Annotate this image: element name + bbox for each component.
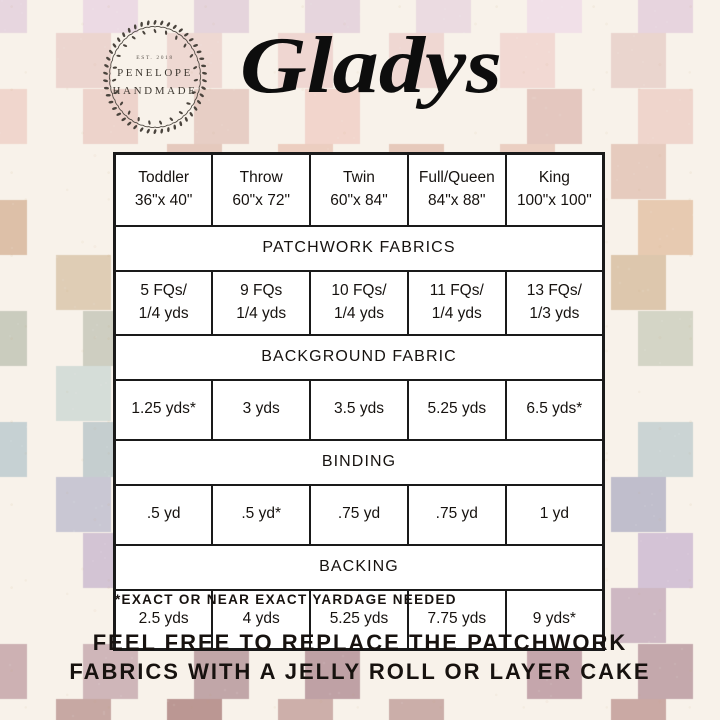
size-name: Twin	[313, 167, 405, 189]
size-dimensions: 36"x 40"	[118, 190, 209, 212]
size-header-cell: Full/Queen84"x 88"	[408, 154, 506, 226]
table-section-heading-row: PATCHWORK FABRICS	[115, 226, 604, 271]
yardage-cell: 13 FQs/1/3 yds	[506, 271, 604, 335]
yardage-value: .5 yd*	[215, 503, 307, 525]
yardage-cell: 5 FQs/1/4 yds	[115, 271, 213, 335]
substitution-note-line-1: FEEL FREE TO REPLACE THE PATCHWORK	[0, 628, 720, 657]
yardage-value: 1 yd	[509, 503, 600, 525]
size-name: Throw	[215, 167, 307, 189]
yardage-cell: 11 FQs/1/4 yds	[408, 271, 506, 335]
pattern-name-text: Gladys	[240, 22, 502, 110]
table-section-heading-row: BACKGROUND FABRIC	[115, 335, 604, 380]
yardage-value: 9 FQs	[215, 280, 307, 302]
size-header-cell: Twin60"x 84"	[310, 154, 408, 226]
brand-logo: EST. 2018 PENELOPE HANDMADE	[96, 18, 214, 136]
yardage-value: 13 FQs/	[509, 280, 600, 302]
size-dimensions: 60"x 84"	[313, 190, 405, 212]
section-heading: BACKING	[115, 545, 604, 590]
yardage-value: 3.5 yds	[313, 398, 405, 420]
yardage-footnote: *EXACT OR NEAR EXACT YARDAGE NEEDED	[115, 592, 457, 607]
yardage-cell: 9 FQs1/4 yds	[212, 271, 310, 335]
yardage-value-secondary: 1/3 yds	[509, 303, 600, 325]
yardage-cell: .75 yd	[310, 485, 408, 545]
yardage-value: 6.5 yds*	[509, 398, 600, 420]
table-value-row: 1.25 yds*3 yds3.5 yds5.25 yds6.5 yds*	[115, 380, 604, 440]
size-dimensions: 84"x 88"	[411, 190, 503, 212]
yardage-cell: 1.25 yds*	[115, 380, 213, 440]
yardage-value: 1.25 yds*	[118, 398, 209, 420]
size-header-cell: Toddler36"x 40"	[115, 154, 213, 226]
yardage-value-secondary: 1/4 yds	[215, 303, 307, 325]
table-value-row: 5 FQs/1/4 yds9 FQs1/4 yds10 FQs/1/4 yds1…	[115, 271, 604, 335]
yardage-value: 5.25 yds	[411, 398, 503, 420]
yardage-cell: .75 yd	[408, 485, 506, 545]
yardage-value-secondary: 1/4 yds	[411, 303, 503, 325]
yardage-value-secondary: 1/4 yds	[118, 303, 209, 325]
size-header-cell: Throw60"x 72"	[212, 154, 310, 226]
yardage-value: .75 yd	[411, 503, 503, 525]
yardage-value: 5 FQs/	[118, 280, 209, 302]
yardage-value: .75 yd	[313, 503, 405, 525]
yardage-requirements-table: Toddler36"x 40"Throw60"x 72"Twin60"x 84"…	[113, 152, 605, 651]
size-name: Toddler	[118, 167, 209, 189]
size-dimensions: 60"x 72"	[215, 190, 307, 212]
yardage-value: 3 yds	[215, 398, 307, 420]
yardage-value: .5 yd	[118, 503, 209, 525]
size-name: King	[509, 167, 600, 189]
section-heading: BACKGROUND FABRIC	[115, 335, 604, 380]
yardage-cell: 1 yd	[506, 485, 604, 545]
substitution-note: FEEL FREE TO REPLACE THE PATCHWORK FABRI…	[0, 628, 720, 687]
yardage-cell: 10 FQs/1/4 yds	[310, 271, 408, 335]
yardage-cell: 3.5 yds	[310, 380, 408, 440]
yardage-cell: 6.5 yds*	[506, 380, 604, 440]
size-dimensions: 100"x 100"	[509, 190, 600, 212]
section-heading: PATCHWORK FABRICS	[115, 226, 604, 271]
table-section-heading-row: BINDING	[115, 440, 604, 485]
page-title: Gladys	[236, 16, 536, 120]
table-header-row: Toddler36"x 40"Throw60"x 72"Twin60"x 84"…	[115, 154, 604, 226]
yardage-value-secondary: 1/4 yds	[313, 303, 405, 325]
substitution-note-line-2: FABRICS WITH A JELLY ROLL OR LAYER CAKE	[0, 657, 720, 686]
yardage-cell: .5 yd*	[212, 485, 310, 545]
section-heading: BINDING	[115, 440, 604, 485]
yardage-value: 10 FQs/	[313, 280, 405, 302]
yardage-cell: 5.25 yds	[408, 380, 506, 440]
logo-name-line-2: HANDMADE	[113, 84, 198, 100]
yardage-cell: 3 yds	[212, 380, 310, 440]
size-name: Full/Queen	[411, 167, 503, 189]
size-header-cell: King100"x 100"	[506, 154, 604, 226]
logo-name-line-1: PENELOPE	[117, 66, 193, 82]
page-header: EST. 2018 PENELOPE HANDMADE Gladys	[0, 0, 720, 140]
yardage-value: 11 FQs/	[411, 280, 503, 302]
yardage-cell: .5 yd	[115, 485, 213, 545]
table-section-heading-row: BACKING	[115, 545, 604, 590]
table-value-row: .5 yd.5 yd*.75 yd.75 yd1 yd	[115, 485, 604, 545]
logo-established-text: EST. 2018	[136, 55, 174, 61]
